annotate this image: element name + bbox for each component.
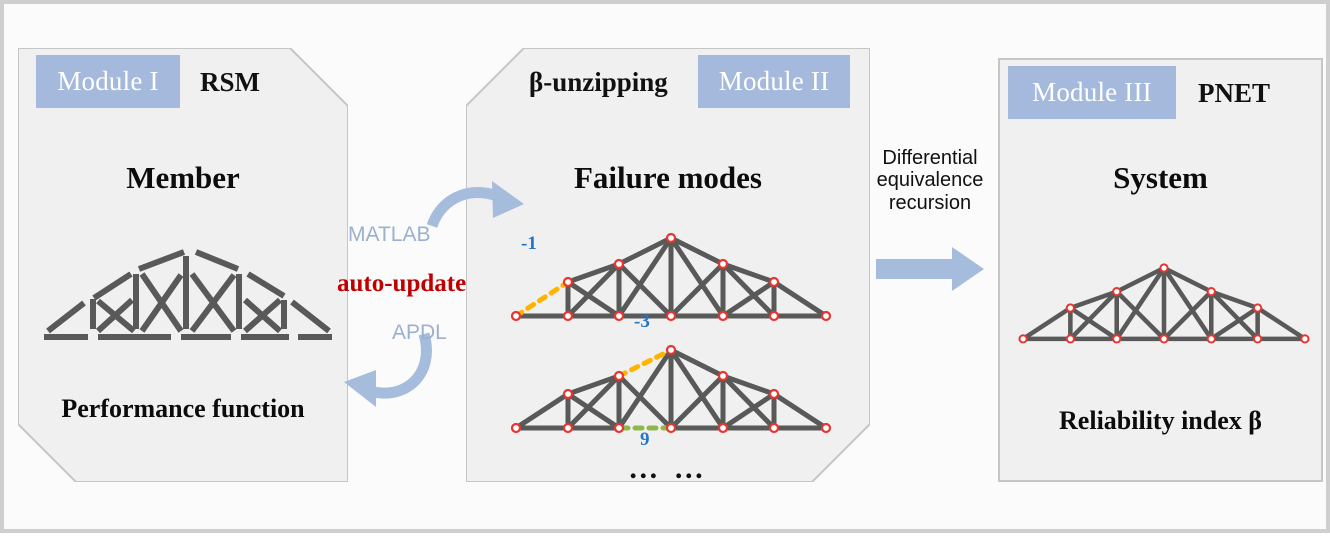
panel-1-footer-text: Performance function — [61, 394, 304, 423]
module-tag-2: Module II — [698, 55, 850, 108]
failure-mode-truss-1-svg — [506, 216, 836, 326]
module-tag-2-label: Module II — [719, 68, 830, 95]
module-tag-1-label: Module I — [57, 68, 158, 95]
panel-module-2: Module II β-unzipping Failure modes — [466, 48, 870, 482]
panel-1-heading-text: Member — [126, 160, 240, 195]
method-label-2: β-unzipping — [529, 66, 668, 98]
auto-update-text: auto-update — [337, 270, 466, 297]
system-truss — [1014, 248, 1314, 348]
flow-label-apdl-text: APDL — [392, 321, 447, 344]
flow-label-matlab: MATLAB — [348, 224, 430, 245]
panel-module-3: Module III PNET System — [998, 58, 1323, 482]
panel-1-footer: Performance function — [18, 396, 348, 422]
system-truss-svg — [1014, 248, 1314, 348]
mode-number-1-text: -1 — [521, 233, 537, 254]
panel-1-heading: Member — [18, 162, 348, 193]
method-label-3: PNET — [1198, 77, 1270, 109]
mode-number-1: -1 — [521, 234, 537, 253]
curved-arrow-left-icon — [344, 334, 426, 407]
mode-number-2-bottom: 9 — [640, 430, 650, 449]
flow-label-matlab-text: MATLAB — [348, 223, 430, 246]
truss-exploded-svg — [26, 236, 346, 346]
failure-mode-truss-1 — [506, 216, 836, 326]
method-label-3-text: PNET — [1198, 80, 1270, 107]
failed-member-dashed-1 — [516, 282, 568, 316]
failure-mode-truss-2-svg — [506, 328, 836, 438]
mode-number-2-top: -3 — [634, 312, 650, 331]
module-tag-3: Module III — [1008, 66, 1176, 119]
panel-3-footer: Reliability index β — [998, 408, 1323, 434]
transition-label-line1: Differential — [866, 147, 994, 169]
panel-2-footer-text: … … — [628, 452, 708, 485]
block-arrow-right-icon — [876, 247, 984, 291]
truss-exploded-members — [26, 236, 346, 346]
module-tag-1: Module I — [36, 55, 180, 108]
flow-label-apdl: APDL — [392, 322, 447, 343]
transition-label-line2: equivalence — [866, 169, 994, 191]
failure-mode-truss-2 — [506, 328, 836, 438]
panel-3-footer-text: Reliability index β — [1059, 406, 1262, 435]
mode-number-2-top-text: -3 — [634, 311, 650, 332]
method-label-1: RSM — [200, 66, 260, 98]
transition-label: Differential equivalence recursion — [866, 147, 994, 214]
auto-update-label: auto-update — [337, 271, 466, 296]
mode-number-2-bottom-text: 9 — [640, 429, 650, 450]
panel-2-footer: … … — [466, 454, 870, 484]
method-label-1-text: RSM — [200, 69, 260, 96]
panel-2-heading: Failure modes — [466, 162, 870, 193]
panel-module-1: Module I RSM Member — [18, 48, 348, 482]
panel-3-heading-text: System — [1113, 160, 1208, 195]
method-label-2-text: β-unzipping — [529, 69, 668, 96]
diagram-canvas: Module I RSM Member — [0, 0, 1330, 533]
panel-2-heading-text: Failure modes — [574, 160, 762, 195]
module-tag-3-label: Module III — [1032, 79, 1152, 106]
panel-3-heading: System — [998, 162, 1323, 193]
transition-label-line3: recursion — [866, 192, 994, 214]
